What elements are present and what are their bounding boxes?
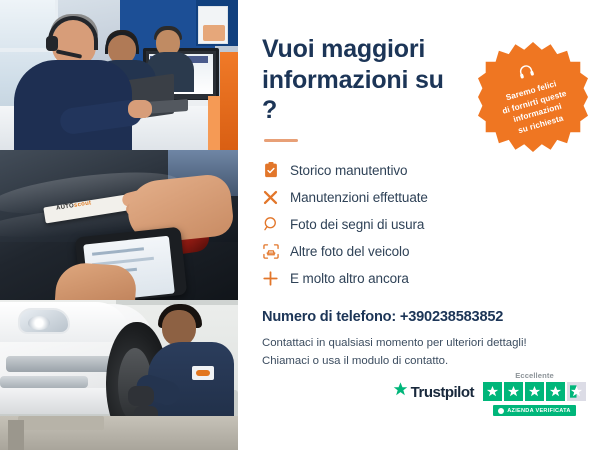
wrench-cross-icon <box>262 189 279 206</box>
verified-badge-label: AZIENDA VERIFICATA <box>507 408 570 414</box>
contact-subtext-line-2: Chiamaci o usa il modulo di contatto. <box>262 355 448 367</box>
trustpilot-star-1 <box>483 382 502 401</box>
trustpilot-star-2 <box>504 382 523 401</box>
photo-column: AUTOscout <box>0 0 238 450</box>
trustpilot-star-icon <box>393 382 408 402</box>
title-underline-rule <box>264 139 298 142</box>
feature-item-altre-foto-veicolo: Altre foto del veicolo <box>262 243 578 260</box>
feature-item-storico-manutentivo: Storico manutentivo <box>262 162 578 179</box>
plus-icon <box>262 270 279 287</box>
feature-label: E molto altro ancora <box>290 271 409 286</box>
feature-item-manutenzioni-effettuate: Manutenzioni effettuate <box>262 189 578 206</box>
contact-subtext-line-1: Contattaci in qualsiasi momento per ulte… <box>262 337 527 349</box>
content-panel: Vuoi maggiori informazioni su ? Saremo f… <box>238 0 600 450</box>
trustpilot-logo: Trustpilot <box>393 371 474 402</box>
callout-badge: Saremo felici di fornirti queste informa… <box>478 42 588 152</box>
feature-label: Manutenzioni effettuate <box>290 190 428 205</box>
verified-check-icon <box>498 408 504 414</box>
feature-item-foto-segni-usura: Foto dei segni di usura <box>262 216 578 233</box>
feature-label: Storico manutentivo <box>290 163 407 178</box>
feature-label: Foto dei segni di usura <box>290 217 424 232</box>
trustpilot-widget[interactable]: Trustpilot Eccellente <box>393 371 586 416</box>
trustpilot-star-3 <box>525 382 544 401</box>
photo-technician-measuring-car-body-with-tablet: AUTOscout <box>0 150 238 300</box>
trustpilot-star-4 <box>546 382 565 401</box>
page-title-line-1: Vuoi maggiori <box>262 35 425 63</box>
contact-subtext: Contattaci in qualsiasi momento per ulte… <box>262 334 578 370</box>
trustpilot-wordmark: Trustpilot <box>411 384 474 401</box>
feature-list: Storico manutentivo Manutenzioni effettu… <box>262 162 578 287</box>
phone-label: Numero di telefono: <box>262 309 396 325</box>
magnifier-icon <box>262 216 279 233</box>
feature-item-molto-altro: E molto altro ancora <box>262 270 578 287</box>
photo-mechanic-inspecting-wheel-on-lift <box>0 300 238 450</box>
page-title-line-2: informazioni su ? <box>262 66 444 125</box>
photo-call-center-agents-with-headsets <box>0 0 238 150</box>
scan-car-icon <box>262 243 279 260</box>
trustpilot-rating-caption: Eccellente <box>515 371 554 380</box>
clipboard-check-icon <box>262 162 279 179</box>
trustpilot-verified-badge: AZIENDA VERIFICATA <box>493 405 575 416</box>
feature-label: Altre foto del veicolo <box>290 244 409 259</box>
trustpilot-star-5 <box>567 382 586 401</box>
phone-number[interactable]: +390238583852 <box>400 309 503 325</box>
promo-poster: AUTOscout <box>0 0 600 450</box>
page-title: Vuoi maggiori informazioni su ? <box>262 34 462 126</box>
phone-line: Numero di telefono: +390238583852 <box>262 309 578 325</box>
trustpilot-stars <box>483 382 586 401</box>
